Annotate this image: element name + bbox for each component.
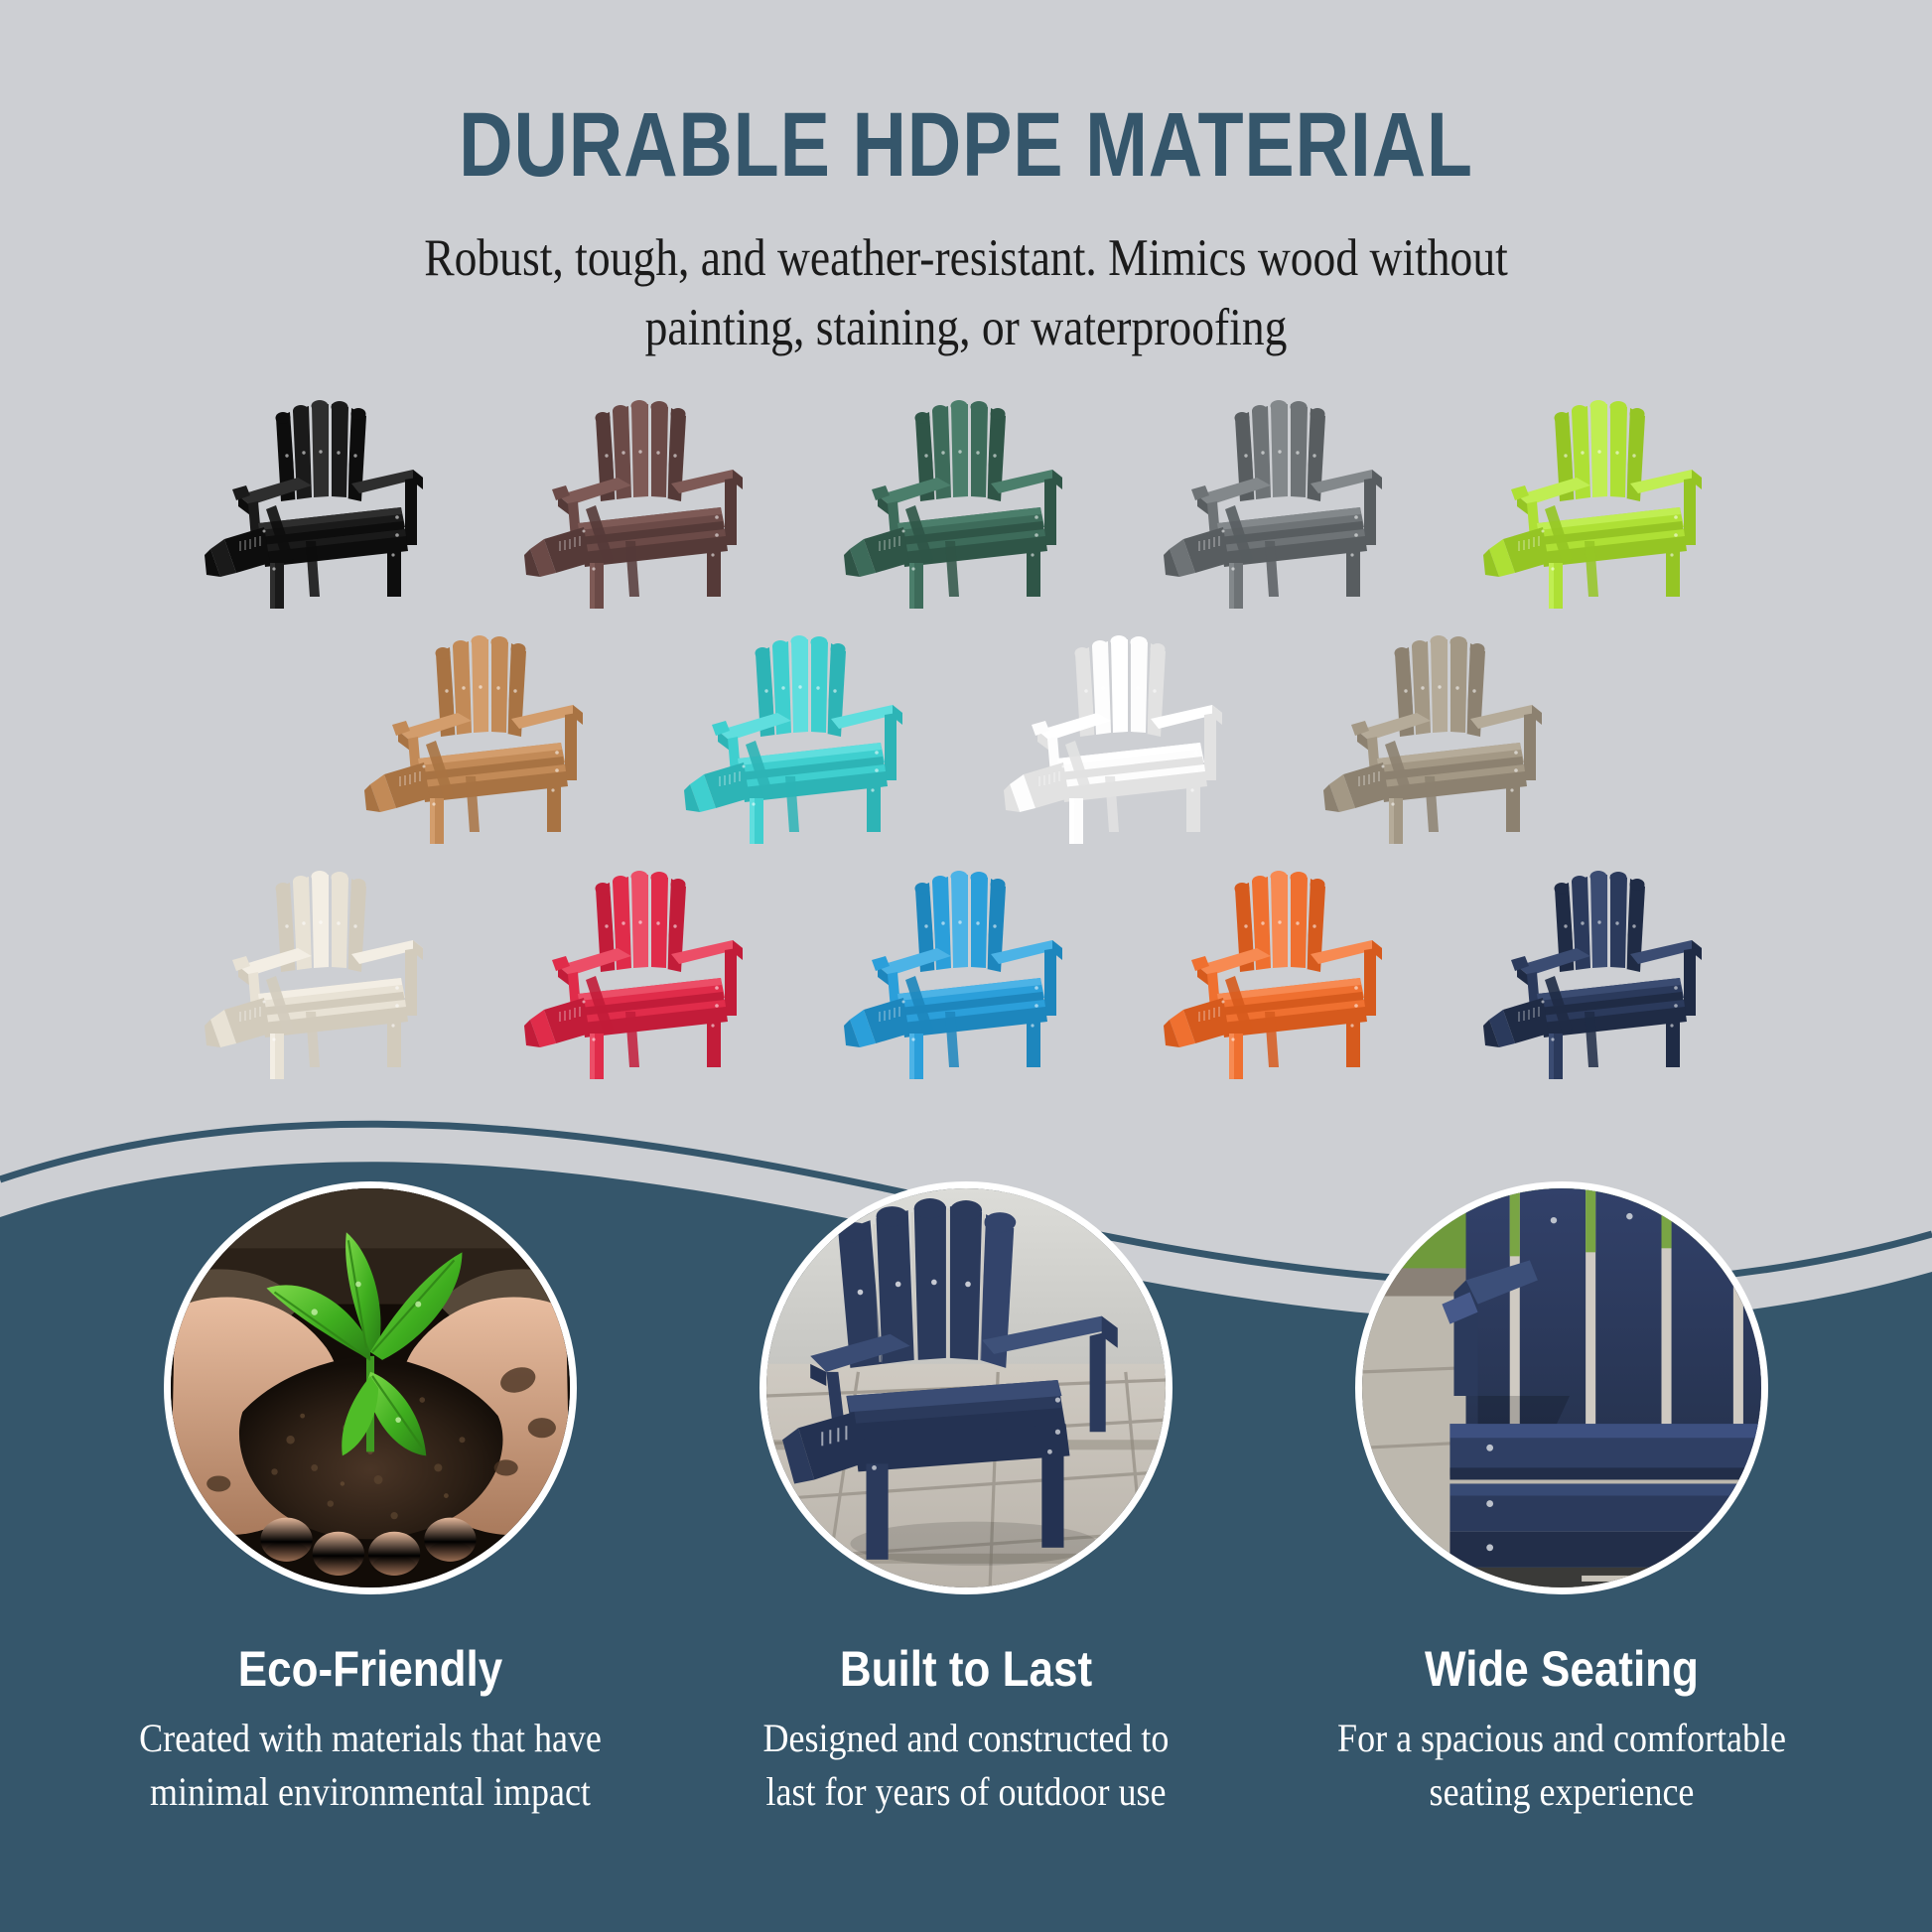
feature-desc-line-1: Created with materials that have <box>134 1712 606 1765</box>
page-title: DURABLE HDPE MATERIAL <box>174 99 1758 191</box>
feature-description: Created with materials that have minimal… <box>102 1712 638 1819</box>
feature-desc-line-2: minimal environmental impact <box>134 1765 606 1819</box>
chair-row-3 <box>0 838 1932 1081</box>
seedling-illustration <box>171 1188 570 1587</box>
adirondack-chair-white <box>1002 610 1250 846</box>
wide-seat-closeup-illustration <box>1362 1188 1761 1587</box>
chair-row-2 <box>0 603 1932 846</box>
feature-desc-line-1: For a spacious and comfortable <box>1325 1712 1797 1765</box>
chair-swatch-ivory[interactable] <box>178 838 476 1081</box>
adirondack-chair-dark green <box>842 374 1090 611</box>
chair-swatch-teak[interactable] <box>338 603 635 846</box>
chair-swatch-white[interactable] <box>977 603 1275 846</box>
adirondack-chair-black <box>203 374 451 611</box>
chair-swatch-dark-green[interactable] <box>817 367 1115 611</box>
adirondack-chair-turquoise <box>682 610 930 846</box>
chair-swatch-orange[interactable] <box>1137 838 1435 1081</box>
feature-built-to-last: Built to Last Designed and constructed t… <box>668 1181 1264 1819</box>
feature-title: Built to Last <box>704 1640 1228 1698</box>
subtitle-line-1: Robust, tough, and weather-resistant. Mi… <box>135 224 1797 294</box>
adirondack-chair-navy blue <box>1481 845 1729 1081</box>
chair-swatch-red[interactable] <box>497 838 795 1081</box>
feature-desc-line-2: last for years of outdoor use <box>730 1765 1201 1819</box>
hands-holding-seedling-photo <box>164 1181 577 1594</box>
page-subtitle: Robust, tough, and weather-resistant. Mi… <box>135 224 1797 363</box>
adirondack-chair-weathered wood <box>1321 610 1570 846</box>
adirondack-chair-ivory <box>203 845 451 1081</box>
feature-description: For a spacious and comfortable seating e… <box>1294 1712 1830 1819</box>
chair-swatch-navy-blue[interactable] <box>1456 838 1754 1081</box>
navy-chair-wide-seat-closeup-photo <box>1355 1181 1768 1594</box>
chair-row-1 <box>0 367 1932 611</box>
chair-swatch-turquoise[interactable] <box>657 603 955 846</box>
feature-desc-line-2: seating experience <box>1325 1765 1797 1819</box>
header: DURABLE HDPE MATERIAL Robust, tough, and… <box>0 0 1932 363</box>
chair-swatch-gray[interactable] <box>1137 367 1435 611</box>
chair-swatch-brown[interactable] <box>497 367 795 611</box>
feature-row: Eco-Friendly Created with materials that… <box>0 1181 1932 1819</box>
feature-wide-seating: Wide Seating For a spacious and comforta… <box>1264 1181 1860 1819</box>
navy-chair-scene-illustration <box>766 1188 1166 1587</box>
feature-description: Designed and constructed to last for yea… <box>698 1712 1234 1819</box>
chair-swatch-weathered-wood[interactable] <box>1297 603 1594 846</box>
feature-title: Eco-Friendly <box>108 1640 632 1698</box>
adirondack-chair-orange <box>1162 845 1410 1081</box>
feature-eco-friendly: Eco-Friendly Created with materials that… <box>72 1181 668 1819</box>
adirondack-chair-gray <box>1162 374 1410 611</box>
feature-title: Wide Seating <box>1300 1640 1824 1698</box>
chair-swatch-blue[interactable] <box>817 838 1115 1081</box>
feature-desc-line-1: Designed and constructed to <box>730 1712 1201 1765</box>
adirondack-chair-brown <box>522 374 770 611</box>
chair-swatch-black[interactable] <box>178 367 476 611</box>
adirondack-chair-blue <box>842 845 1090 1081</box>
chair-swatch-lime-green[interactable] <box>1456 367 1754 611</box>
feature-section: Eco-Friendly Created with materials that… <box>0 1181 1932 1819</box>
navy-adirondack-chair-photo <box>759 1181 1173 1594</box>
adirondack-chair-red <box>522 845 770 1081</box>
subtitle-line-2: painting, staining, or waterproofing <box>135 294 1797 363</box>
chair-color-grid <box>0 367 1932 1081</box>
adirondack-chair-lime green <box>1481 374 1729 611</box>
adirondack-chair-teak <box>362 610 611 846</box>
